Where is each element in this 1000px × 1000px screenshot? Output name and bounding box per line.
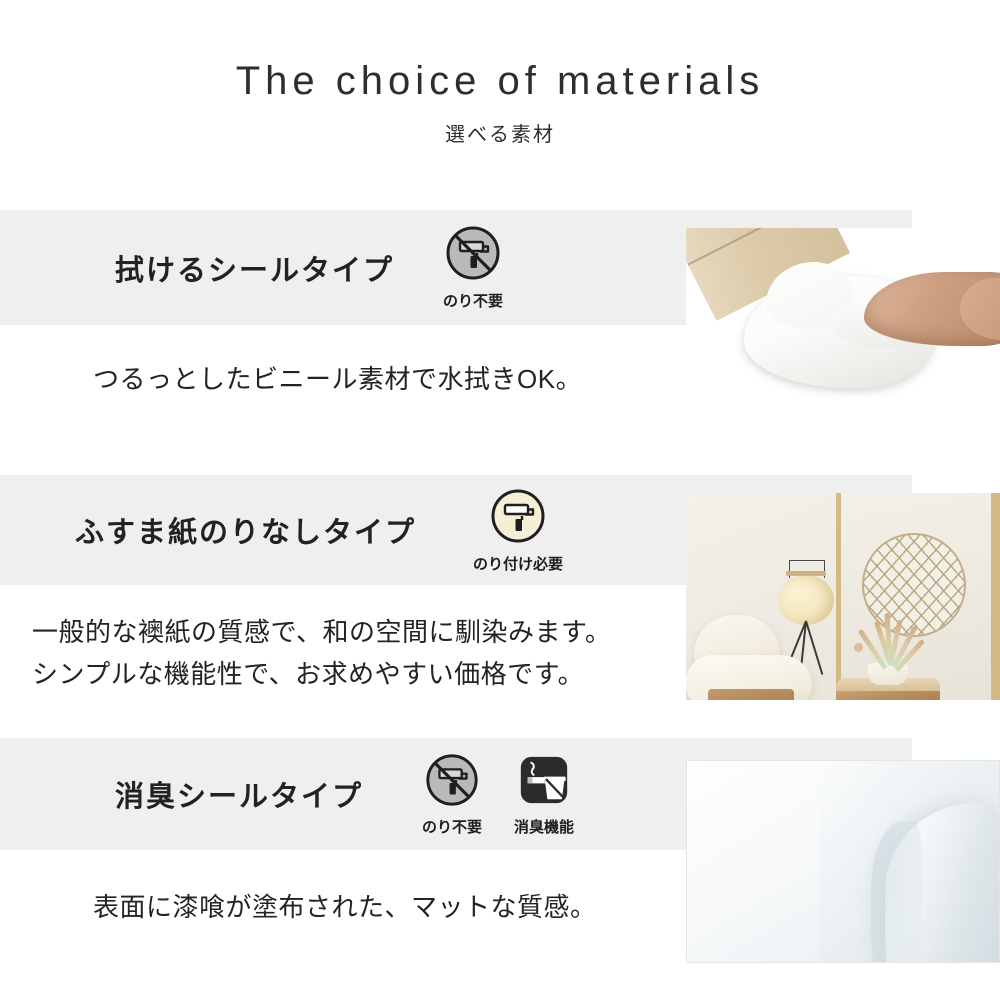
badge-glue-required: のり付け必要: [462, 487, 574, 574]
pampas-grass: [868, 611, 908, 665]
badge-group: のり不要: [436, 224, 510, 311]
paper-lantern-lamp-shade: [778, 575, 834, 625]
photo-japanese-interior: [686, 493, 1000, 700]
section-title: 消臭シールタイプ: [115, 773, 363, 815]
material-section-fusuma-no-glue: ふすま紙のりなしタイプ のり付け必要 一般的な襖紙の質感で、和の空間に馴染みます…: [0, 475, 1000, 705]
section-title: ふすま紙のりなしタイプ: [75, 509, 416, 551]
photo-towel-wiping-rattan: [686, 228, 1000, 435]
armchair-wood-base: [708, 689, 794, 700]
fusuma-knob: [854, 643, 863, 652]
page-header: The choice of materials 選べる素材: [0, 0, 1000, 200]
section-title: 拭けるシールタイプ: [115, 247, 394, 289]
badge-deodorizing: 消臭機能: [507, 752, 581, 837]
badge-no-glue: のり不要: [436, 224, 510, 311]
badge-no-glue: のり不要: [415, 752, 489, 837]
section-description-line: シンプルな機能性で、お求めやすい価格です。: [32, 653, 584, 695]
badge-group: のり付け必要: [462, 487, 574, 574]
paint-roller-prohibited-icon: [444, 224, 502, 287]
page-title: The choice of materials: [0, 0, 1000, 104]
deodorize-cigarette-trash-icon: [516, 752, 572, 813]
section-description-line: つるっとしたビニール素材で水拭きOK。: [93, 358, 582, 400]
section-description-line: 一般的な襖紙の質感で、和の空間に馴染みます。: [32, 611, 611, 653]
material-section-deodorizing: 消臭シールタイプ のり不要: [0, 738, 1000, 978]
badge-label: 消臭機能: [514, 816, 574, 837]
paint-roller-prohibited-icon: [424, 752, 480, 813]
fusuma-panel: [996, 493, 1000, 700]
page-subtitle: 選べる素材: [0, 104, 1000, 147]
section-description-line: 表面に漆喰が塗布された、マットな質感。: [93, 886, 597, 928]
badge-label: のり不要: [422, 816, 482, 837]
badge-label: のり付け必要: [473, 553, 563, 574]
badge-label: のり不要: [443, 290, 503, 311]
badge-group: のり不要 消臭機能: [415, 752, 581, 837]
photo-white-sheet-curled: [686, 760, 1000, 963]
paint-roller-icon: [489, 487, 547, 550]
sheet-curled-edge: [885, 803, 1000, 963]
material-section-wipeable: 拭けるシールタイプ のり不要 つるっとしたビニール素材で水拭きOK。: [0, 210, 1000, 470]
